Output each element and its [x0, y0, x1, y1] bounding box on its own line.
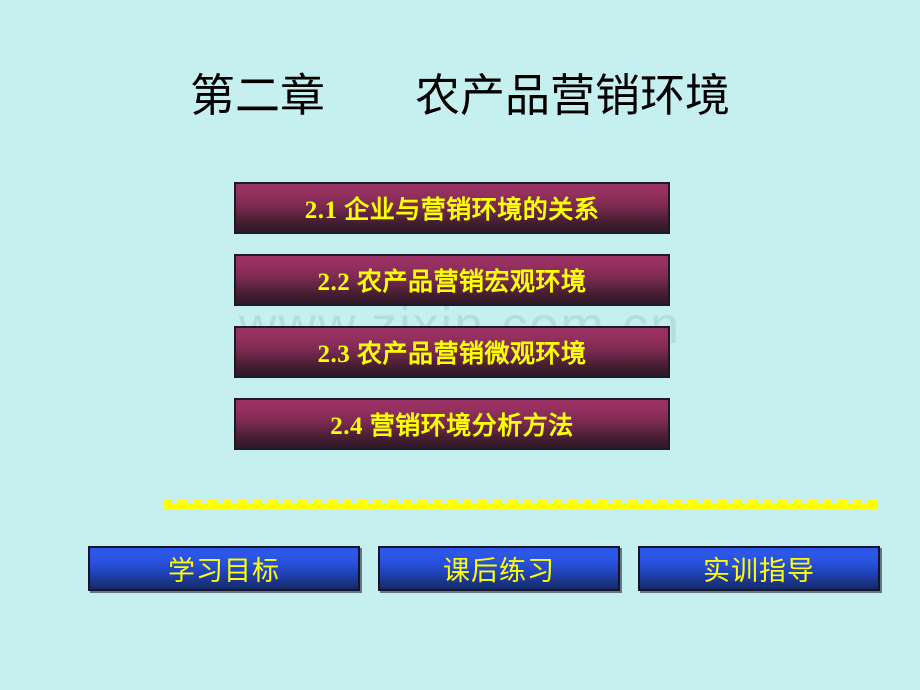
section-list: 2.1 企业与营销环境的关系 2.2 农产品营销宏观环境 2.3 农产品营销微观… [234, 182, 670, 470]
section-item-label: 2.1 企业与营销环境的关系 [305, 190, 600, 226]
after-class-exercises-button[interactable]: 课后练习 [378, 546, 620, 591]
page-title: 第二章 农产品营销环境 [0, 68, 920, 124]
section-item-2-4[interactable]: 2.4 营销环境分析方法 [234, 398, 670, 450]
section-item-2-1[interactable]: 2.1 企业与营销环境的关系 [234, 182, 670, 234]
divider-rule [163, 497, 878, 507]
study-objectives-button[interactable]: 学习目标 [88, 546, 360, 591]
section-item-label: 2.2 农产品营销宏观环境 [317, 262, 586, 298]
nav-button-row: 学习目标 课后练习 实训指导 [88, 546, 880, 591]
section-item-label: 2.4 营销环境分析方法 [330, 406, 574, 442]
dashed-line-icon [163, 500, 878, 510]
presentation-slide: www.zixin.com.cn 第二章 农产品营销环境 2.1 企业与营销环境… [0, 0, 920, 690]
section-item-2-2[interactable]: 2.2 农产品营销宏观环境 [234, 254, 670, 306]
nav-button-label: 学习目标 [168, 549, 280, 588]
practical-training-guide-button[interactable]: 实训指导 [638, 546, 880, 591]
nav-button-label: 课后练习 [443, 549, 555, 588]
section-item-2-3[interactable]: 2.3 农产品营销微观环境 [234, 326, 670, 378]
section-item-label: 2.3 农产品营销微观环境 [317, 334, 586, 370]
nav-button-label: 实训指导 [703, 549, 815, 588]
